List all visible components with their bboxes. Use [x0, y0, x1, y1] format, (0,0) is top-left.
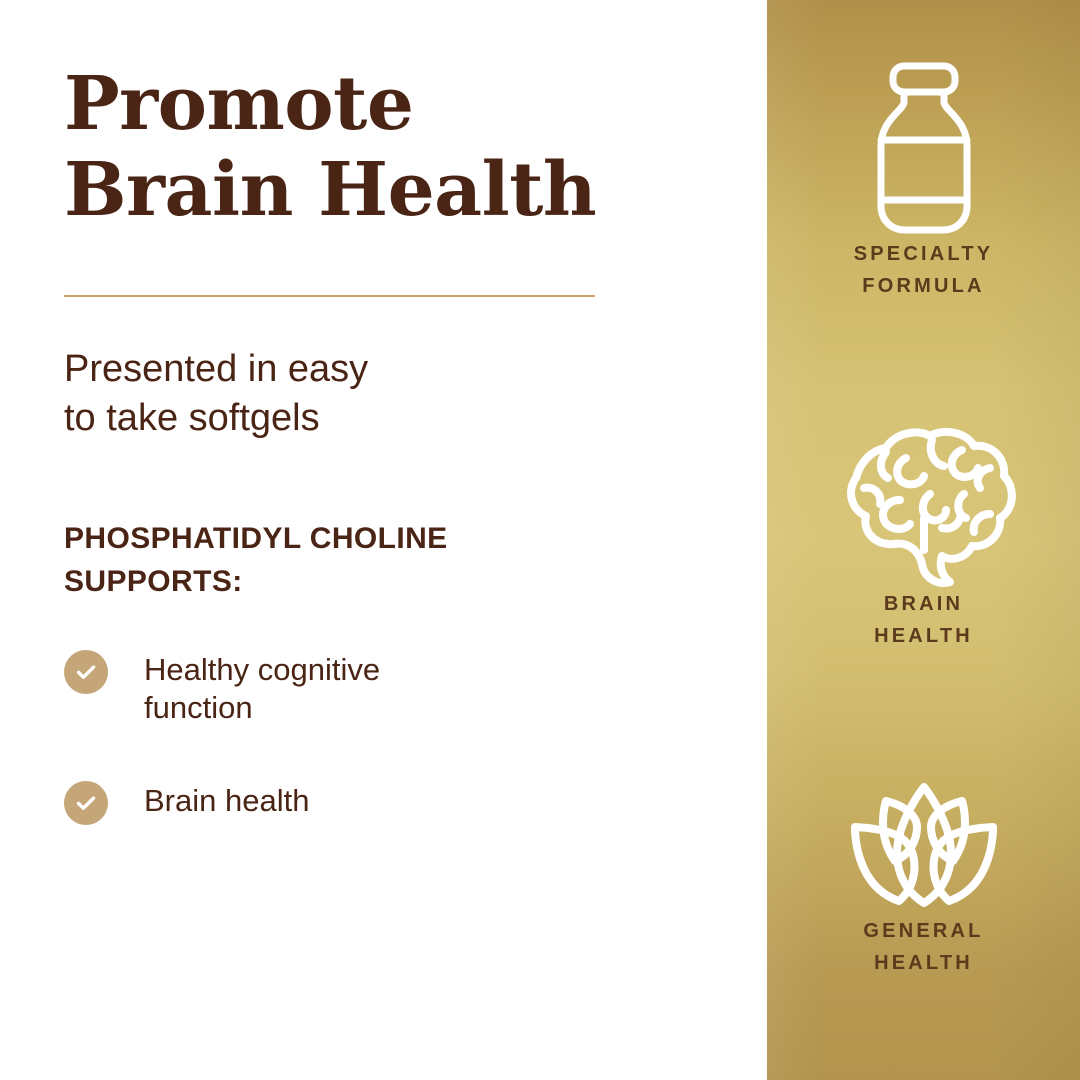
check-icon — [64, 650, 108, 694]
supports-heading-line-1: PHOSPHATIDYL CHOLINE — [64, 518, 704, 561]
check-icon — [64, 781, 108, 825]
product-benefits-infographic: Promote Brain Health Presented in easy t… — [0, 0, 1080, 1080]
subtitle-line-2: to take softgels — [64, 394, 684, 443]
badge-label-line-1: GENERAL — [863, 915, 983, 947]
badge-label-line-1: BRAIN — [874, 588, 973, 620]
list-item: Healthy cognitive function — [64, 648, 704, 727]
page-title-line-1: Promote — [64, 62, 684, 148]
left-content-panel: Promote Brain Health Presented in easy t… — [0, 0, 767, 1080]
lotus-flower-icon — [839, 775, 1009, 915]
badge-label-line-2: HEALTH — [863, 947, 983, 979]
subtitle: Presented in easy to take softgels — [64, 345, 684, 444]
list-item-label: Brain health — [144, 779, 309, 820]
badge-label-line-2: HEALTH — [874, 620, 973, 652]
badge-general-health: GENERAL HEALTH — [767, 775, 1080, 980]
badge-specialty-formula: SPECIALTY FORMULA — [767, 58, 1080, 303]
badge-brain-health: BRAIN HEALTH — [767, 418, 1080, 653]
page-title-line-2: Brain Health — [64, 148, 684, 234]
supports-heading: PHOSPHATIDYL CHOLINE SUPPORTS: — [64, 518, 704, 603]
benefit-badge-sidebar: SPECIALTY FORMULA — [767, 0, 1080, 1080]
brain-icon — [824, 418, 1024, 588]
badge-label-line-1: SPECIALTY — [854, 238, 994, 270]
subtitle-line-1: Presented in easy — [64, 345, 684, 394]
badge-brain-health-label: BRAIN HEALTH — [874, 588, 973, 653]
supports-heading-line-2: SUPPORTS: — [64, 561, 704, 604]
page-title: Promote Brain Health — [64, 62, 684, 234]
benefits-list: Healthy cognitive function Brain health — [64, 648, 704, 877]
badge-general-health-label: GENERAL HEALTH — [863, 915, 983, 980]
list-item: Brain health — [64, 779, 704, 825]
list-item-label: Healthy cognitive function — [144, 648, 474, 727]
badge-label-line-2: FORMULA — [854, 270, 994, 302]
badge-specialty-formula-label: SPECIALTY FORMULA — [854, 238, 994, 303]
supplement-bottle-icon — [859, 58, 989, 238]
divider — [64, 295, 595, 297]
